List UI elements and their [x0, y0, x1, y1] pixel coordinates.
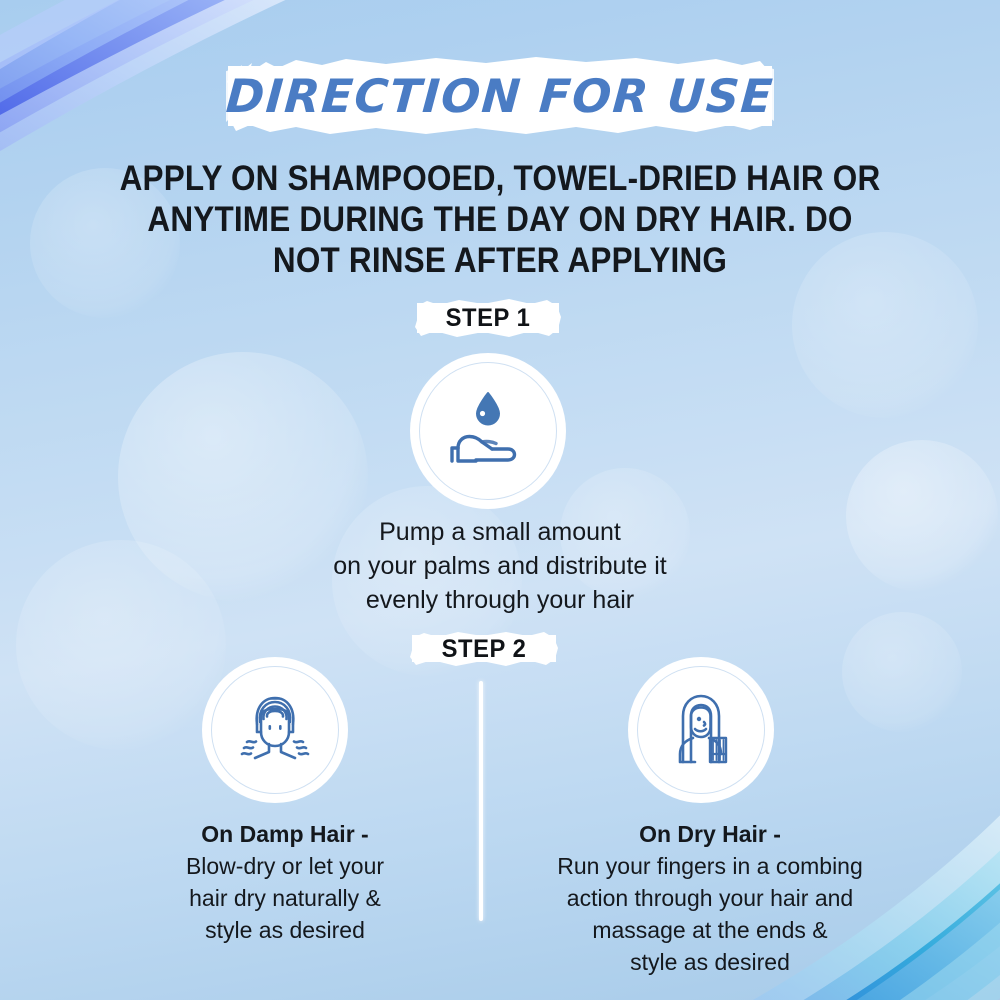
step-1-caption: Pump a small amount on your palms and di…: [250, 515, 750, 617]
head-with-towel-wrap-icon: [202, 657, 348, 803]
headline-line-2: ANYTIME DURING THE DAY ON DRY HAIR. DO: [50, 199, 950, 240]
comb-hair-glyph: [653, 682, 749, 778]
caption-heading: On Damp Hair -: [112, 818, 458, 850]
bokeh-circle: [842, 612, 962, 732]
step-1-badge: STEP 1: [413, 295, 563, 341]
damp-hair-caption: On Damp Hair - Blow-dry or let your hair…: [112, 818, 458, 946]
vertical-divider: [479, 681, 483, 921]
caption-line: on your palms and distribute it: [250, 549, 750, 583]
dry-hair-caption: On Dry Hair - Run your fingers in a comb…: [512, 818, 908, 978]
headline: APPLY ON SHAMPOOED, TOWEL-DRIED HAIR OR …: [50, 158, 950, 281]
headline-line-3: NOT RINSE AFTER APPLYING: [50, 240, 950, 281]
caption-line: action through your hair and: [512, 882, 908, 914]
caption-heading: On Dry Hair -: [512, 818, 908, 850]
headline-line-1: APPLY ON SHAMPOOED, TOWEL-DRIED HAIR OR: [50, 158, 950, 199]
bokeh-circle: [16, 540, 226, 750]
woman-combing-hair-icon: [628, 657, 774, 803]
poster-canvas: DIRECTION FOR USE APPLY ON SHAMPOOED, TO…: [0, 0, 1000, 1000]
caption-line: style as desired: [112, 914, 458, 946]
step-1-label: STEP 1: [417, 295, 560, 341]
caption-line: style as desired: [512, 946, 908, 978]
title-banner: DIRECTION FOR USE: [226, 52, 774, 140]
caption-line: Blow-dry or let your: [112, 850, 458, 882]
towel-head-glyph: [227, 682, 323, 778]
hand-droplet-glyph: [436, 379, 540, 483]
caption-line: massage at the ends &: [512, 914, 908, 946]
caption-line: hair dry naturally &: [112, 882, 458, 914]
caption-line: evenly through your hair: [250, 583, 750, 617]
caption-line: Pump a small amount: [250, 515, 750, 549]
hand-with-droplet-icon: [410, 353, 566, 509]
step-2-label: STEP 2: [412, 628, 556, 670]
step-2-badge: STEP 2: [408, 628, 560, 670]
caption-line: Run your fingers in a combing: [512, 850, 908, 882]
page-title: DIRECTION FOR USE: [223, 52, 777, 140]
bokeh-circle: [846, 440, 998, 592]
